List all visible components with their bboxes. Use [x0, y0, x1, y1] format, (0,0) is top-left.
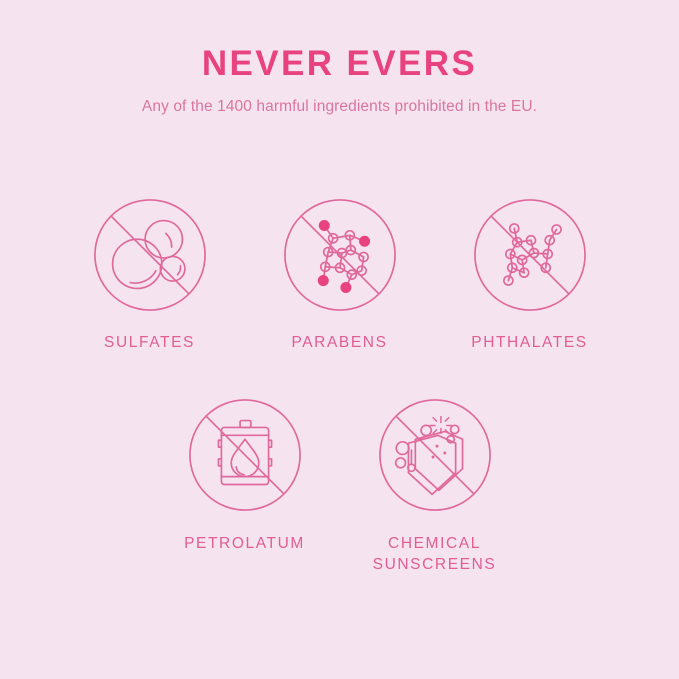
- item-parabens: PARABENS: [245, 196, 435, 354]
- no-parabens-molecule-icon: [281, 196, 399, 314]
- item-label: PHTHALATES: [471, 333, 588, 354]
- icon-row-top: SULFATES: [0, 196, 679, 354]
- item-label: PARABENS: [291, 333, 387, 354]
- item-phthalates: PHTHALATES: [435, 196, 625, 354]
- header: NEVER EVERS Any of the 1400 harmful ingr…: [0, 0, 679, 116]
- no-phthalates-molecule-icon: [471, 196, 589, 314]
- never-evers-infographic: NEVER EVERS Any of the 1400 harmful ingr…: [0, 0, 679, 679]
- item-chemical-sunscreens: CHEMICAL SUNSCREENS: [340, 396, 530, 575]
- no-chemical-sunscreens-shield-icon: [376, 396, 494, 514]
- page-title: NEVER EVERS: [0, 0, 679, 83]
- item-sulfates: SULFATES: [55, 196, 245, 354]
- page-subtitle: Any of the 1400 harmful ingredients proh…: [0, 83, 679, 117]
- item-label: PETROLATUM: [184, 534, 305, 555]
- item-label: CHEMICAL SUNSCREENS: [373, 534, 497, 575]
- icon-row-bottom: PETROLATUM: [0, 396, 679, 575]
- item-petrolatum: PETROLATUM: [150, 396, 340, 575]
- no-sulfates-bubbles-icon: [91, 196, 209, 314]
- no-petrolatum-barrel-icon: [186, 396, 304, 514]
- item-label: SULFATES: [104, 333, 195, 354]
